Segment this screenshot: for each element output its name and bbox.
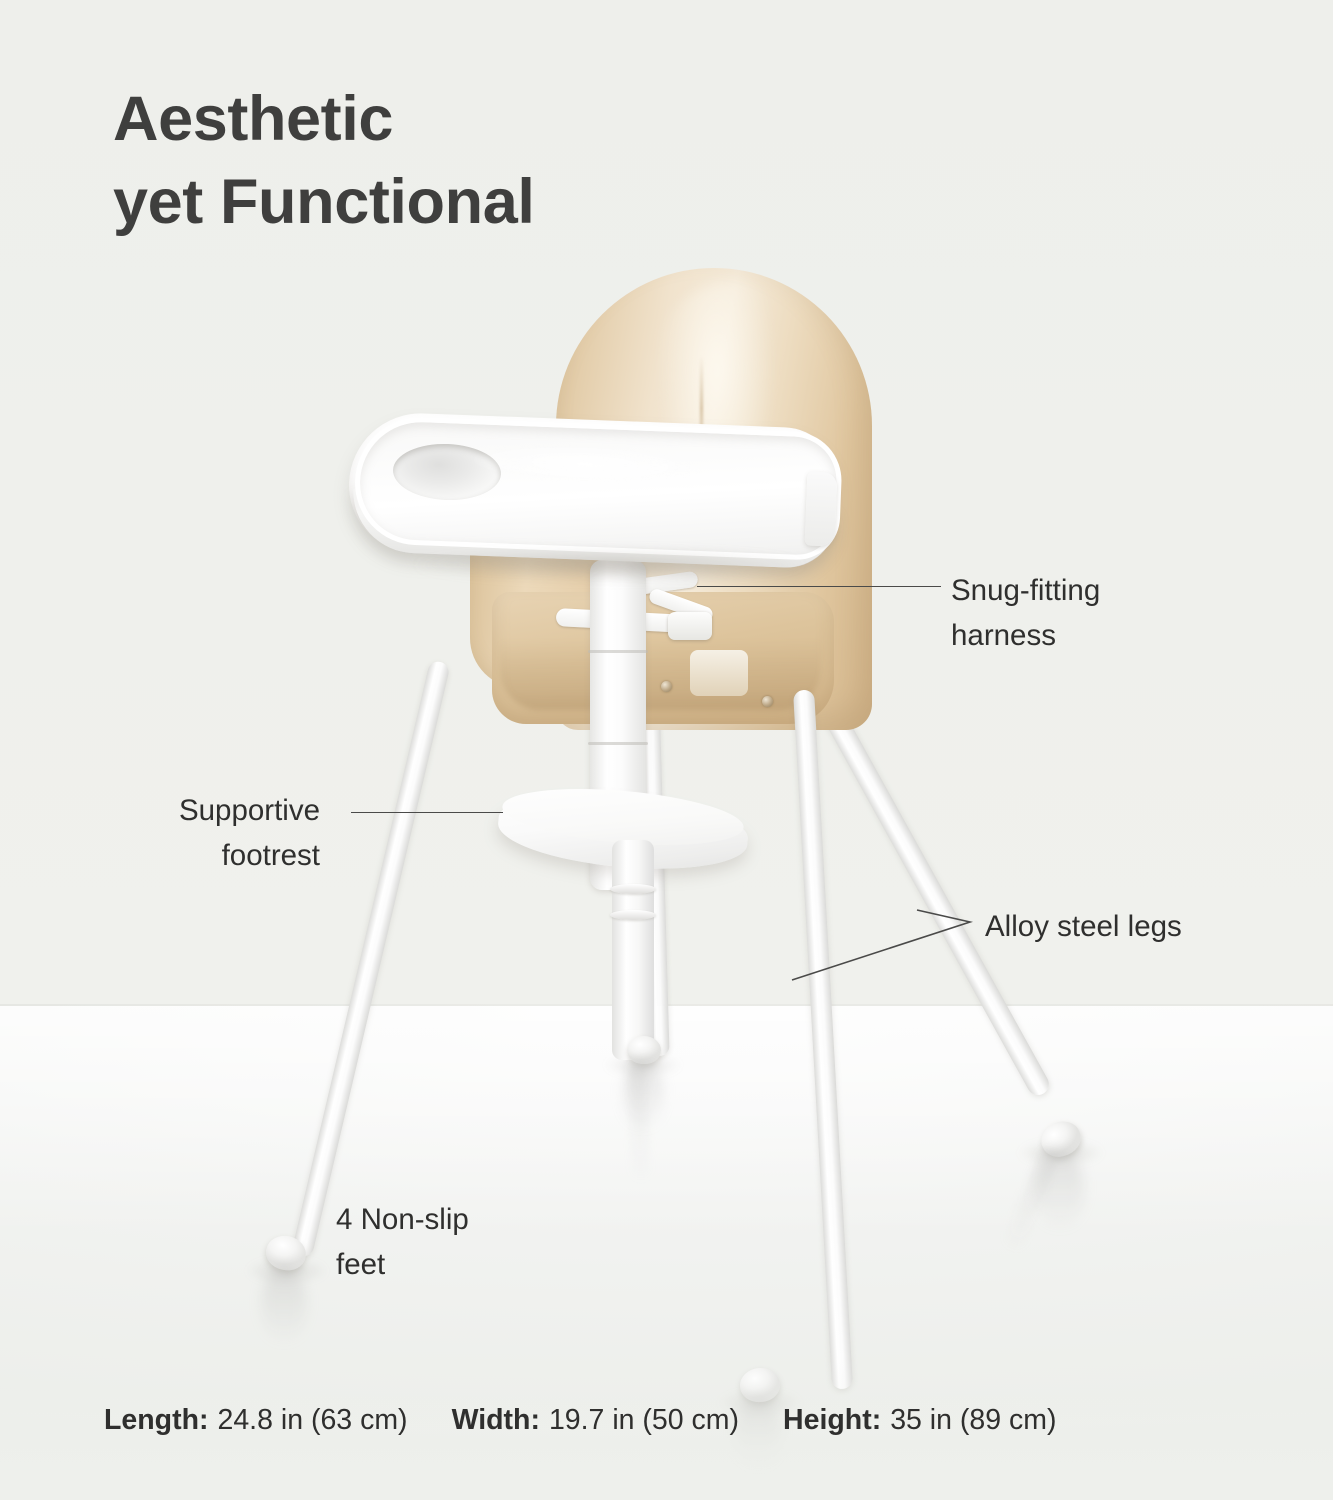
center-post-joint [588,742,648,745]
center-post-ring [610,910,656,920]
leader-line-legs [770,885,1000,1000]
seat-bolt [661,681,672,692]
foot-reflection [262,1266,306,1344]
dimension-length-key: Length: [104,1404,208,1437]
center-post-joint [588,650,648,653]
callout-label-harness: Snug-fitting harness [951,569,1100,659]
dimension-length: Length: 24.8 in (63 cm) [104,1404,408,1437]
dimension-height-key: Height: [783,1404,881,1437]
leader-line-footrest [351,812,503,813]
leader-line-harness [697,586,941,587]
center-post-ring [610,884,656,894]
callout-label-footrest: Supportive footrest [0,789,320,879]
high-chair-photo [0,0,1333,1500]
seat-bolt [762,696,773,707]
tray-side-clip [805,471,838,546]
dimension-height-value: 35 in (89 cm) [890,1404,1056,1437]
dimension-height: Height: 35 in (89 cm) [783,1404,1056,1437]
chair-leg-front-left [291,660,451,1259]
harness-buckle [668,612,712,640]
crotch-strap [690,650,748,696]
dimension-width-value: 19.7 in (50 cm) [549,1404,739,1437]
center-post-lower [612,840,654,1060]
dimensions-row: Length: 24.8 in (63 cm) Width: 19.7 in (… [104,1404,1057,1437]
foot-reflection [1036,1150,1084,1230]
dimension-length-value: 24.8 in (63 cm) [217,1404,407,1437]
dimension-width-key: Width: [452,1404,540,1437]
callout-label-legs: Alloy steel legs [985,905,1182,950]
chair-leg-front-right [793,689,853,1389]
dimension-width: Width: 19.7 in (50 cm) [452,1404,739,1437]
callout-label-feet: 4 Non-slip feet [336,1198,469,1288]
product-infographic: Aesthetic yet Functional [0,0,1333,1500]
foot-reflection [623,1060,663,1130]
tray-underside-shadow [410,548,810,582]
